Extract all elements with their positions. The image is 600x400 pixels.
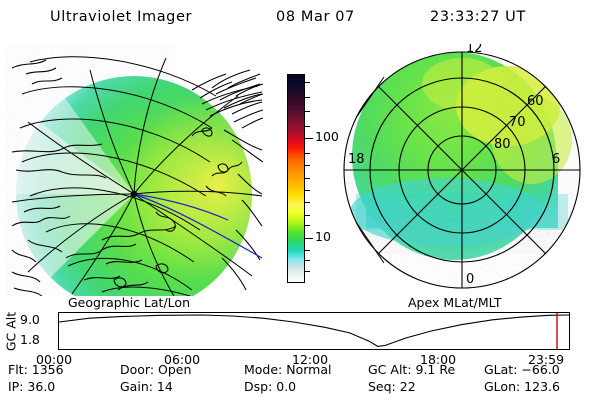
colorbar-minor-tick (304, 126, 310, 127)
altitude-timeline[interactable]: GC Alt 9.0 1.8 00:0006:0012:0018:0023:59 (0, 308, 600, 360)
status-readout: Flt: 1356 Door: Open Mode: Normal GC Alt… (0, 362, 600, 396)
colorbar-minor-tick (304, 260, 310, 261)
svg-text:80: 80 (494, 137, 511, 152)
colorbar-minor-tick (304, 271, 310, 272)
status-glat: GLat: −66.0 (484, 362, 560, 377)
status-seq: Seq: 22 (368, 379, 416, 394)
instrument-title: Ultraviolet Imager (50, 9, 192, 25)
colorbar-minor-tick (304, 97, 310, 98)
svg-text:60: 60 (527, 94, 544, 109)
colorbar-gradient (288, 75, 304, 282)
colorbar-minor-tick (304, 250, 310, 251)
svg-text:18: 18 (348, 152, 365, 167)
status-dsp: Dsp: 0.0 (244, 379, 296, 394)
colorbar-minor-tick (304, 190, 310, 191)
colorbar-minor-tick (304, 202, 310, 203)
subsatellite-point-marker (131, 191, 137, 197)
colorbar-major-tick (304, 138, 313, 139)
mlt-spokes (344, 52, 580, 288)
colorbar-minor-tick (304, 111, 310, 112)
status-ip: IP: 36.0 (8, 379, 55, 394)
svg-text:0: 0 (466, 272, 474, 287)
status-gain: Gain: 14 (120, 379, 173, 394)
svg-text:6: 6 (552, 152, 560, 167)
altitude-plot-box[interactable] (58, 312, 570, 350)
status-flt: Flt: 1356 (8, 362, 64, 377)
altitude-axis-label: GC Alt (2, 314, 20, 354)
status-glon: GLon: 123.6 (484, 379, 560, 394)
svg-text:12: 12 (466, 44, 483, 56)
observation-time: 23:33:27 UT (430, 9, 526, 25)
colorbar-minor-tick (304, 225, 310, 226)
colorbar-tick-label: 10 (315, 231, 331, 244)
colorbar-minor-tick (304, 178, 310, 179)
colorbar-minor-tick (304, 215, 310, 216)
svg-text:70: 70 (509, 115, 526, 130)
altitude-curve (59, 315, 569, 346)
colorbar-minor-tick (304, 82, 310, 83)
status-mode: Mode: Normal (244, 362, 331, 377)
colorbar-major-tick (304, 238, 313, 239)
geographic-plot-canvas (12, 56, 263, 296)
colorbar-minor-tick (304, 153, 310, 154)
colorbar-minor-tick (304, 165, 310, 166)
apex-mlat-mlt-plot[interactable]: 12 6 18 0 60 70 80 (336, 44, 588, 296)
colorbar-scale (287, 74, 305, 283)
status-gcalt: GC Alt: 9.1 Re (368, 362, 455, 377)
observation-date: 08 Mar 07 (276, 9, 355, 25)
status-row-1: Flt: 1356 Door: Open Mode: Normal GC Alt… (0, 362, 600, 379)
geographic-polar-plot[interactable] (6, 44, 264, 296)
status-row-2: IP: 36.0 Gain: 14 Dsp: 0.0 Seq: 22 GLon:… (0, 379, 600, 396)
status-door: Door: Open (120, 362, 191, 377)
mlt-dial-canvas: 12 6 18 0 60 70 80 (344, 44, 580, 292)
altitude-tick-low: 1.8 (20, 332, 40, 347)
header-bar: Ultraviolet Imager 08 Mar 07 23:33:27 UT (0, 6, 600, 32)
altitude-tick-high: 9.0 (20, 312, 40, 327)
